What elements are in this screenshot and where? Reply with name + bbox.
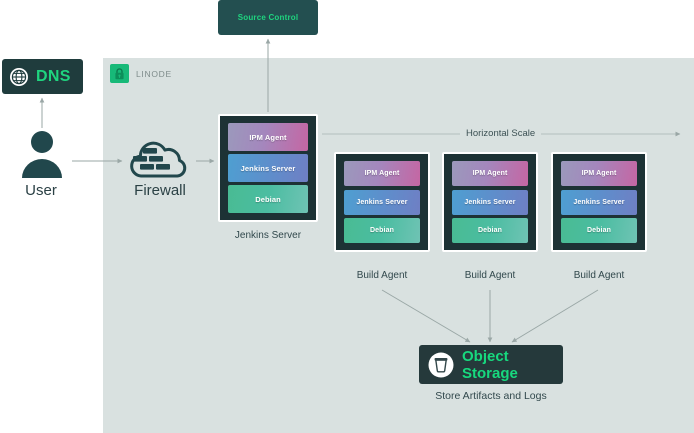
- bucket-icon: [428, 352, 454, 378]
- node-build-agent-2[interactable]: IPM Agent Jenkins Server Debian: [442, 152, 538, 252]
- node-build-agent-1[interactable]: IPM Agent Jenkins Server Debian: [334, 152, 430, 252]
- layer-ipm-agent: IPM Agent: [561, 161, 637, 186]
- layer-debian: Debian: [344, 218, 420, 243]
- layer-jenkins-server: Jenkins Server: [344, 190, 420, 215]
- dns-label: DNS: [36, 68, 71, 86]
- jenkins-server-caption: Jenkins Server: [218, 230, 318, 241]
- horizontal-scale-label: Horizontal Scale: [460, 128, 541, 139]
- source-control-label: Source Control: [238, 13, 299, 22]
- layer-debian: Debian: [561, 218, 637, 243]
- layer-debian: Debian: [452, 218, 528, 243]
- layer-ipm-agent: IPM Agent: [452, 161, 528, 186]
- layer-debian: Debian: [228, 185, 308, 213]
- user-icon: [21, 130, 63, 178]
- object-storage-caption: Store Artifacts and Logs: [411, 390, 571, 402]
- build-agent-3-caption: Build Agent: [551, 270, 647, 281]
- user-label: User: [5, 182, 77, 199]
- layer-jenkins-server: Jenkins Server: [561, 190, 637, 215]
- layer-jenkins-server: Jenkins Server: [228, 154, 308, 182]
- node-build-agent-3[interactable]: IPM Agent Jenkins Server Debian: [551, 152, 647, 252]
- lock-icon: [110, 64, 129, 83]
- build-agent-2-caption: Build Agent: [442, 270, 538, 281]
- globe-icon: [9, 67, 29, 87]
- object-storage-label: Object Storage: [462, 348, 563, 382]
- layer-ipm-agent: IPM Agent: [344, 161, 420, 186]
- node-object-storage[interactable]: Object Storage: [419, 345, 563, 384]
- node-source-control[interactable]: Source Control: [218, 0, 318, 35]
- architecture-diagram-canvas: LINODE Source Control DNS User: [0, 0, 694, 433]
- node-jenkins-server[interactable]: IPM Agent Jenkins Server Debian: [218, 114, 318, 222]
- node-dns[interactable]: DNS: [2, 59, 83, 94]
- layer-ipm-agent: IPM Agent: [228, 123, 308, 151]
- firewall-label: Firewall: [121, 182, 199, 199]
- firewall-cloud-icon: [127, 138, 193, 182]
- build-agent-1-caption: Build Agent: [334, 270, 430, 281]
- linode-region-label: LINODE: [136, 69, 172, 79]
- layer-jenkins-server: Jenkins Server: [452, 190, 528, 215]
